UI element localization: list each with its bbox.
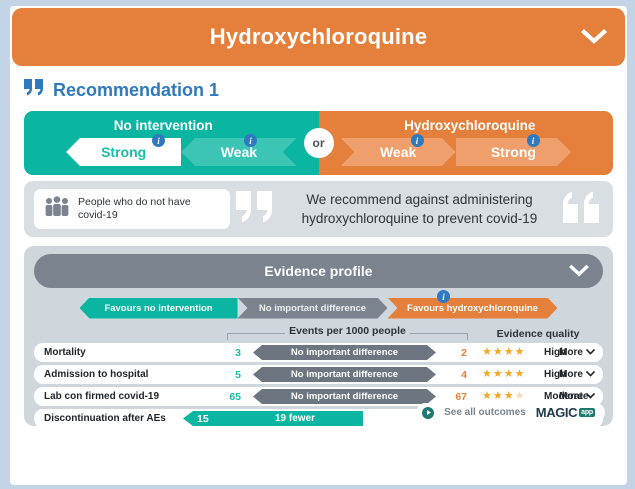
favours-hydroxychloroquine: Favours hydroxychloroquine (388, 298, 558, 319)
strength-right-options: Weak Strong i i (319, 137, 614, 167)
star-filled-icon: ★ (504, 347, 514, 358)
strength-left-options: Strong Weak i i (24, 137, 319, 167)
star-filled-icon: ★ (493, 391, 503, 402)
favours-no-intervention: Favours no intervention (80, 298, 238, 319)
star-filled-icon: ★ (504, 369, 514, 380)
quality-stars: ★★★★ (482, 369, 525, 380)
effect-bar: 1519 fewer (253, 411, 436, 426)
star-empty-icon: ★ (515, 391, 525, 402)
see-all-outcomes-link[interactable]: See all outcomes (444, 407, 526, 418)
strength-option-label: Strong (491, 144, 536, 160)
chevron-down-icon[interactable] (586, 391, 595, 402)
strength-option-label: Strong (101, 144, 146, 160)
info-icon[interactable]: i (152, 134, 165, 147)
quality-stars: ★★★★ (482, 347, 525, 358)
more-button[interactable]: More (559, 369, 595, 380)
info-icon[interactable]: i (527, 134, 540, 147)
page-root: Hydroxychloroquine Recommendation 1 No i… (0, 0, 635, 489)
evidence-profile-panel: Evidence profile Favours no intervention… (24, 246, 613, 426)
effect-label: No important difference (253, 345, 436, 360)
card-header[interactable]: Hydroxychloroquine (12, 8, 625, 66)
recommendation-label-row: Recommendation 1 (10, 66, 627, 111)
magic-app-logo: MAGIC app (536, 405, 595, 420)
people-icon (44, 196, 70, 223)
table-row[interactable]: Admission to hospital5No important diffe… (34, 365, 603, 384)
left-value: 65 (219, 391, 241, 403)
star-filled-icon: ★ (515, 347, 525, 358)
population-pill[interactable]: People who do not have covid-19 (34, 189, 230, 229)
chevron-down-icon[interactable] (586, 347, 595, 358)
right-value: 2 (445, 347, 467, 359)
info-icon[interactable]: i (437, 290, 450, 303)
strength-option-label: Weak (380, 144, 416, 160)
more-button[interactable]: More (559, 391, 595, 402)
recommendation-statement-area: We recommend against administering hydro… (230, 190, 603, 228)
table-column-headers: Events per 1000 people Evidence quality (30, 323, 607, 340)
effect-label: 19 fewer (275, 413, 315, 424)
left-value: 3 (219, 347, 241, 359)
left-value: 5 (219, 369, 241, 381)
chevron-down-icon[interactable] (586, 369, 595, 380)
events-bracket: Events per 1000 people (227, 325, 468, 340)
strength-side-no-intervention: No intervention Strong Weak i i (24, 111, 319, 175)
effect-bar: No important difference (253, 345, 436, 360)
effect-label: No important difference (253, 367, 436, 382)
no-important-difference: No important difference (238, 298, 388, 319)
star-filled-icon: ★ (515, 369, 525, 380)
chevron-down-icon[interactable] (581, 29, 607, 45)
recommendation-body: People who do not have covid-19 We recom… (24, 181, 613, 237)
recommendation-statement: We recommend against administering hydro… (284, 190, 555, 228)
quote-close-icon (563, 191, 603, 228)
strength-option-weak-right[interactable]: Weak (341, 138, 456, 166)
magic-wordmark: MAGIC (536, 405, 577, 420)
strength-option-strong-right[interactable]: Strong (456, 138, 571, 166)
effect-label: No important difference (253, 389, 436, 404)
outcome-label: Admission to hospital (44, 369, 148, 380)
info-icon[interactable]: i (244, 134, 257, 147)
or-separator: or (304, 128, 334, 158)
quality-column-header: Evidence quality (482, 328, 594, 340)
magic-app-badge: app (579, 408, 595, 417)
info-icon[interactable]: i (411, 134, 424, 147)
star-filled-icon: ★ (482, 347, 492, 358)
star-filled-icon: ★ (493, 369, 503, 380)
effect-bar: No important difference (253, 389, 436, 404)
table-row[interactable]: Mortality3No important difference2★★★★Hi… (34, 343, 603, 362)
star-filled-icon: ★ (482, 391, 492, 402)
more-button[interactable]: More (559, 347, 595, 358)
strength-side-hydroxychloroquine: Hydroxychloroquine Weak Strong i i (319, 111, 614, 175)
right-value: 4 (445, 369, 467, 381)
left-value: 15 (197, 413, 209, 425)
play-circle-icon[interactable] (422, 407, 434, 419)
more-label: More (559, 369, 583, 380)
strength-selector: No intervention Strong Weak i i Hydroxyc… (24, 111, 613, 175)
chevron-down-icon[interactable] (569, 265, 589, 278)
evidence-profile-header[interactable]: Evidence profile (34, 254, 603, 288)
more-label: More (559, 391, 583, 402)
events-column-header: Events per 1000 people (285, 325, 410, 337)
strength-option-weak-left[interactable]: Weak (181, 138, 296, 166)
evidence-profile-title: Evidence profile (264, 263, 372, 279)
effect-bar-favours-left: 1519 fewer (183, 411, 363, 426)
star-filled-icon: ★ (504, 391, 514, 402)
more-label: More (559, 347, 583, 358)
population-label: People who do not have covid-19 (78, 196, 220, 222)
recommendation-card: Hydroxychloroquine Recommendation 1 No i… (10, 6, 627, 485)
outcome-label: Lab con firmed covid-19 (44, 391, 159, 402)
strength-left-title: No intervention (24, 117, 319, 134)
recommendation-number: Recommendation 1 (53, 80, 219, 101)
quote-open-icon (236, 191, 276, 228)
direction-bar: Favours no intervention No important dif… (30, 297, 607, 319)
quality-stars: ★★★★ (482, 391, 525, 402)
page-title: Hydroxychloroquine (210, 24, 428, 50)
star-filled-icon: ★ (482, 369, 492, 380)
evidence-footer[interactable]: See all outcomes MAGIC app (416, 403, 605, 422)
quote-open-icon (24, 79, 46, 101)
effect-bar: No important difference (253, 367, 436, 382)
outcome-label: Discontinuation after AEs (44, 413, 166, 424)
outcome-label: Mortality (44, 347, 86, 358)
star-filled-icon: ★ (493, 347, 503, 358)
right-value: 67 (445, 391, 467, 403)
strength-right-title: Hydroxychloroquine (319, 117, 614, 134)
